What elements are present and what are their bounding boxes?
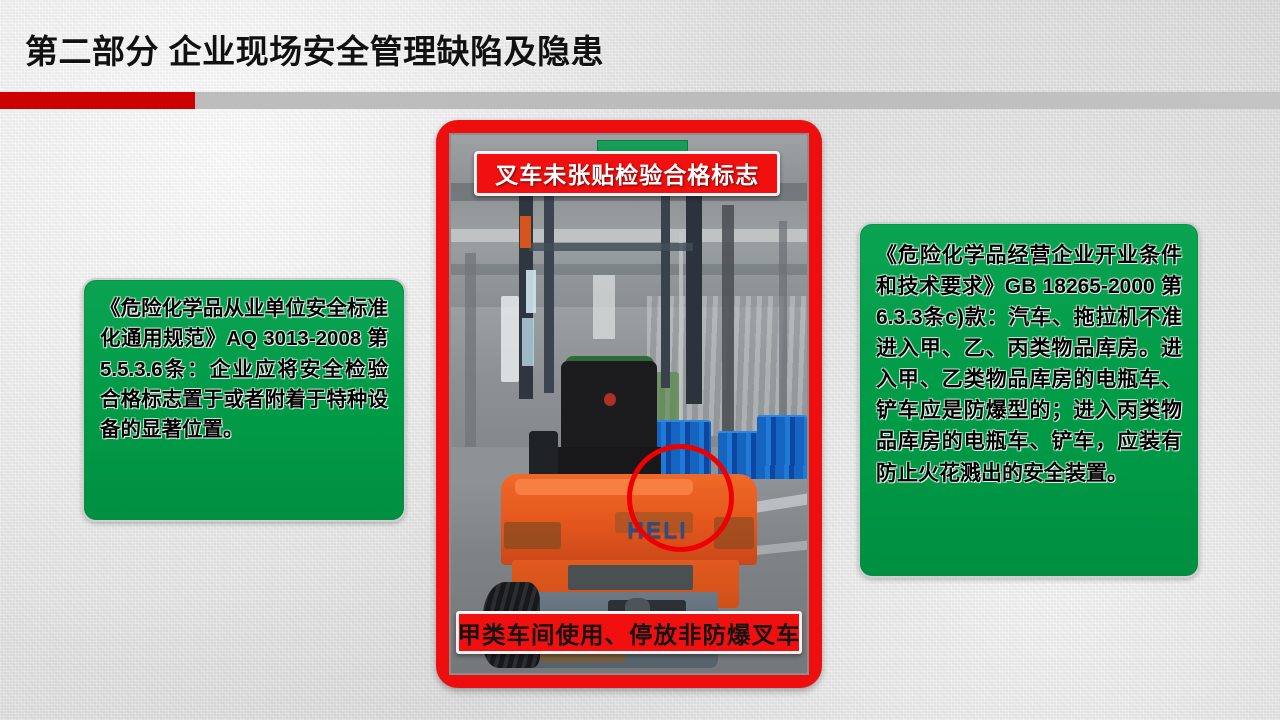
- structural-column: [722, 205, 734, 452]
- rust-patch: [504, 522, 561, 549]
- forklift-mast-crossbar: [529, 243, 693, 252]
- mast-light-reflection: [526, 270, 537, 313]
- structural-column: [465, 253, 476, 447]
- divider-track-segment: [195, 92, 1280, 109]
- ceiling-beam: [451, 229, 807, 242]
- red-annotation-circle: [627, 444, 734, 552]
- mast-orange-detail: [520, 216, 531, 248]
- background-equipment: [593, 275, 614, 340]
- forklift-mast-rail: [661, 162, 670, 388]
- header-divider: [0, 92, 1280, 109]
- forklift-photograph: AVE-0329: [451, 135, 807, 673]
- vertical-pipe: [679, 232, 683, 436]
- slide-canvas: 第二部分 企业现场安全管理缺陷及隐患 《危险化学品从业单位安全标准化通用规范》A…: [0, 0, 1280, 720]
- note-left-text: 《危险化学品从业单位安全标准化通用规范》AQ 3013-2008 第5.5.3.…: [100, 294, 388, 446]
- note-box-left: 《危险化学品从业单位安全标准化通用规范》AQ 3013-2008 第5.5.3.…: [82, 278, 406, 522]
- structural-column: [779, 221, 788, 447]
- photo-inner-border: AVE-0329: [449, 133, 809, 675]
- ceiling-beam: [451, 264, 807, 275]
- photo-caption-top: 叉车未张贴检验合格标志: [474, 151, 780, 196]
- photo-frame: AVE-0329: [436, 120, 822, 688]
- page-title: 第二部分 企业现场安全管理缺陷及隐患: [25, 25, 604, 73]
- mast-light-reflection: [522, 318, 533, 366]
- counterweight-recess: [568, 565, 693, 589]
- background-equipment: [501, 296, 519, 382]
- blue-drum-stack: [757, 415, 807, 465]
- photo-caption-bottom: 甲类车间使用、停放非防爆叉车: [456, 611, 801, 654]
- divider-accent-segment: [0, 92, 195, 109]
- note-box-right: 《危险化学品经营企业开业条件和技术要求》GB 18265-2000 第6.3.3…: [858, 222, 1200, 578]
- note-right-text: 《危险化学品经营企业开业条件和技术要求》GB 18265-2000 第6.3.3…: [876, 240, 1182, 489]
